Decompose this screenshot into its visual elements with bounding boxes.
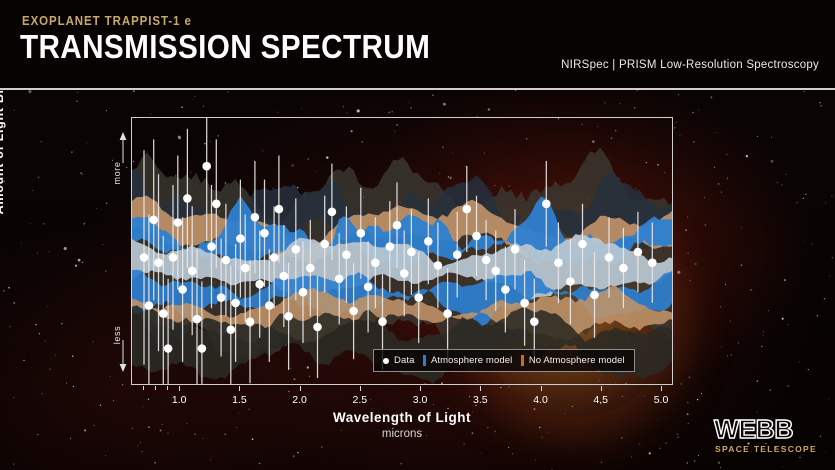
webb-logo-subtitle: SPACE TELESCOPE: [715, 444, 817, 454]
x-tick-label: 2.5: [352, 394, 367, 406]
x-tick-mark: [360, 386, 361, 391]
legend-item-atmosphere-model[interactable]: Atmosphere model: [423, 355, 512, 366]
y-axis-less-label: less: [112, 318, 122, 352]
x-tick-label: 5.0: [654, 394, 669, 406]
y-axis-more-label: more: [112, 156, 122, 190]
x-tick-mark: [480, 386, 481, 391]
x-tick-label: 4.0: [533, 394, 548, 406]
x-axis-label: Wavelength of Light: [131, 410, 673, 425]
x-tick-label: 2.0: [292, 394, 307, 406]
infographic-stage: EXOPLANET TRAPPIST-1 e TRANSMISSION SPEC…: [0, 0, 835, 470]
x-tick-mark: [300, 386, 301, 391]
x-minor-tick: [167, 386, 168, 390]
x-minor-tick: [155, 386, 156, 390]
page-title: TRANSMISSION SPECTRUM: [20, 30, 430, 65]
chart-legend: DataAtmosphere modelNo Atmosphere model: [373, 349, 635, 372]
x-tick-mark: [179, 386, 180, 391]
legend-label: Atmosphere model: [431, 355, 512, 366]
x-tick-mark: [420, 386, 421, 391]
header-divider: [0, 88, 835, 90]
legend-bar-icon: [521, 355, 524, 366]
eyebrow-label: EXOPLANET TRAPPIST-1 e: [22, 14, 192, 28]
x-tick-mark: [239, 386, 240, 391]
legend-bar-icon: [423, 355, 426, 366]
webb-logo: WEBB SPACE TELESCOPE: [715, 417, 817, 454]
x-tick-mark: [541, 386, 542, 391]
header-bar: EXOPLANET TRAPPIST-1 e TRANSMISSION SPEC…: [0, 0, 835, 88]
legend-item-no-atmosphere-model[interactable]: No Atmosphere model: [521, 355, 624, 366]
legend-dot-icon: [383, 358, 389, 364]
legend-label: No Atmosphere model: [529, 355, 625, 366]
instrument-label: NIRSpec | PRISM Low-Resolution Spectrosc…: [561, 59, 819, 71]
legend-item-data[interactable]: Data: [383, 355, 414, 366]
x-axis-units: microns: [131, 428, 673, 440]
x-minor-tick: [143, 386, 144, 390]
x-tick-label: 3.5: [473, 394, 488, 406]
legend-label: Data: [394, 355, 414, 366]
webb-logo-wordmark: WEBB: [714, 417, 818, 442]
x-tick-label: 1.5: [232, 394, 247, 406]
x-tick-mark: [661, 386, 662, 391]
x-axis: 1.01.52.02.53.03.54.04.55.0: [131, 386, 673, 408]
x-tick-label: 1.0: [172, 394, 187, 406]
x-tick-label: 3.0: [413, 394, 428, 406]
x-tick-mark: [601, 386, 602, 391]
x-tick-label: 4.5: [593, 394, 608, 406]
